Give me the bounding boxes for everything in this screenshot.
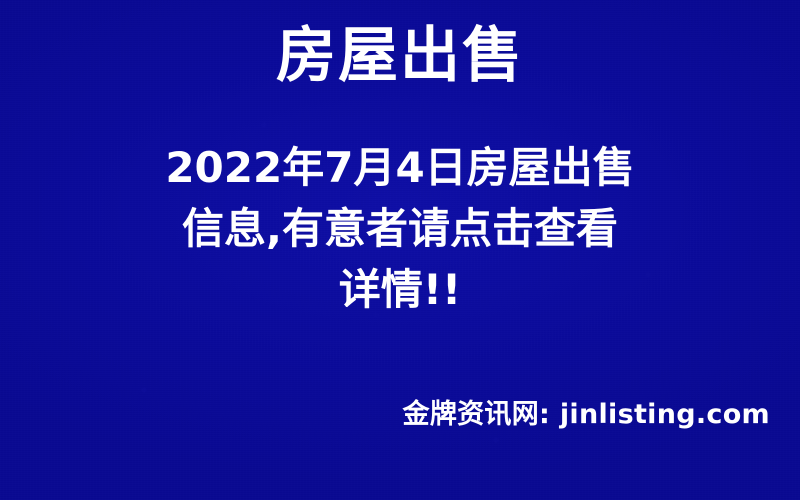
watermark-site-url: jinlisting.com: [560, 399, 770, 430]
poster-canvas: 房屋出售 2022年7月4日房屋出售 信息,有意者请点击查看 详情!! 金牌资讯…: [0, 0, 800, 500]
poster-body-text: 2022年7月4日房屋出售 信息,有意者请点击查看 详情!!: [110, 137, 690, 320]
source-watermark: 金牌资讯网: jinlisting.com: [0, 398, 770, 432]
poster-headline: 房屋出售: [0, 20, 800, 92]
body-line-2: 信息,有意者请点击查看: [110, 198, 690, 259]
body-line-1: 2022年7月4日房屋出售: [110, 137, 690, 198]
body-line-3: 详情!!: [110, 259, 690, 320]
watermark-site-name: 金牌资讯网:: [403, 399, 551, 430]
